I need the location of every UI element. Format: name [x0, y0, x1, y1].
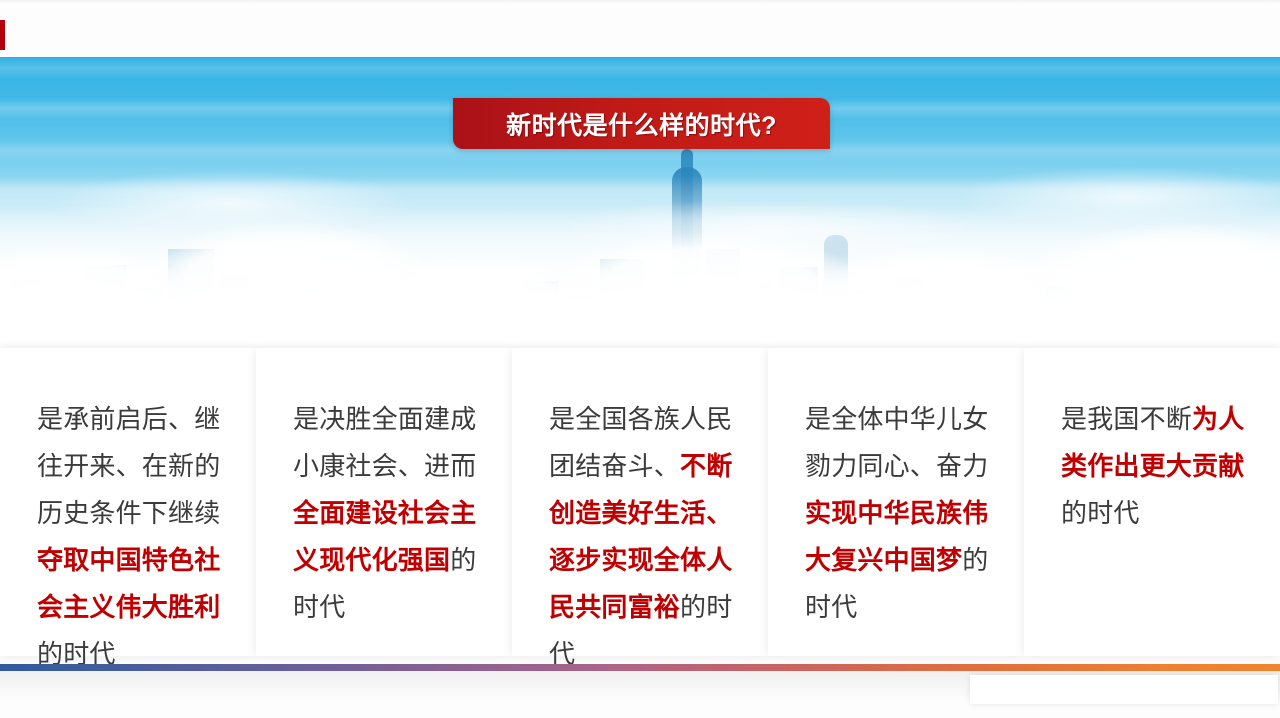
card-highlight-text: 全面建设社会主义现代化强国 — [293, 498, 476, 575]
page-top-edge — [0, 0, 1280, 4]
card-item[interactable]: 是全体中华儿女勠力同心、奋力实现中华民族伟大复兴中国梦的时代 — [768, 348, 1024, 656]
page-title: 新时代是什么样的时代? — [506, 106, 777, 142]
card-lead-text: 是决胜全面建成小康社会、进而 — [293, 404, 476, 481]
slide-canvas: 新时代是什么样的时代? 是承前启后、继往开来、在新的历史条件下继续夺取中国特色社… — [0, 0, 1280, 718]
card-item[interactable]: 是决胜全面建成小康社会、进而全面建设社会主义现代化强国的时代 — [256, 348, 512, 656]
card-text: 是承前启后、继往开来、在新的历史条件下继续夺取中国特色社会主义伟大胜利的时代 — [37, 396, 228, 678]
left-accent-bar — [0, 20, 5, 50]
slide-title-banner: 新时代是什么样的时代? — [453, 98, 830, 149]
card-text: 是我国不断为人类作出更大贡献的时代 — [1061, 396, 1252, 537]
card-item[interactable]: 是我国不断为人类作出更大贡献的时代 — [1024, 348, 1280, 656]
card-lead-text: 是我国不断 — [1061, 404, 1192, 434]
cloud-bank — [0, 175, 1280, 345]
card-row: 是承前启后、继往开来、在新的历史条件下继续夺取中国特色社会主义伟大胜利的时代 是… — [0, 348, 1280, 656]
card-lead-text: 是承前启后、继往开来、在新的历史条件下继续 — [37, 404, 220, 528]
card-text: 是全国各族人民团结奋斗、不断创造美好生活、逐步实现全体人民共同富裕的时代 — [549, 396, 740, 678]
card-tail-text: 的时代 — [1061, 498, 1140, 528]
card-lead-text: 是全体中华儿女勠力同心、奋力 — [805, 404, 988, 481]
card-highlight-text: 实现中华民族伟大复兴中国梦 — [805, 498, 988, 575]
card-text: 是全体中华儿女勠力同心、奋力实现中华民族伟大复兴中国梦的时代 — [805, 396, 996, 631]
card-text: 是决胜全面建成小康社会、进而全面建设社会主义现代化强国的时代 — [293, 396, 484, 631]
card-highlight-text: 夺取中国特色社会主义伟大胜利 — [37, 545, 220, 622]
footer-panel — [970, 675, 1278, 704]
card-item[interactable]: 是承前启后、继往开来、在新的历史条件下继续夺取中国特色社会主义伟大胜利的时代 — [0, 348, 256, 656]
card-item[interactable]: 是全国各族人民团结奋斗、不断创造美好生活、逐步实现全体人民共同富裕的时代 — [512, 348, 768, 656]
footer-gradient-rule — [0, 664, 1280, 671]
